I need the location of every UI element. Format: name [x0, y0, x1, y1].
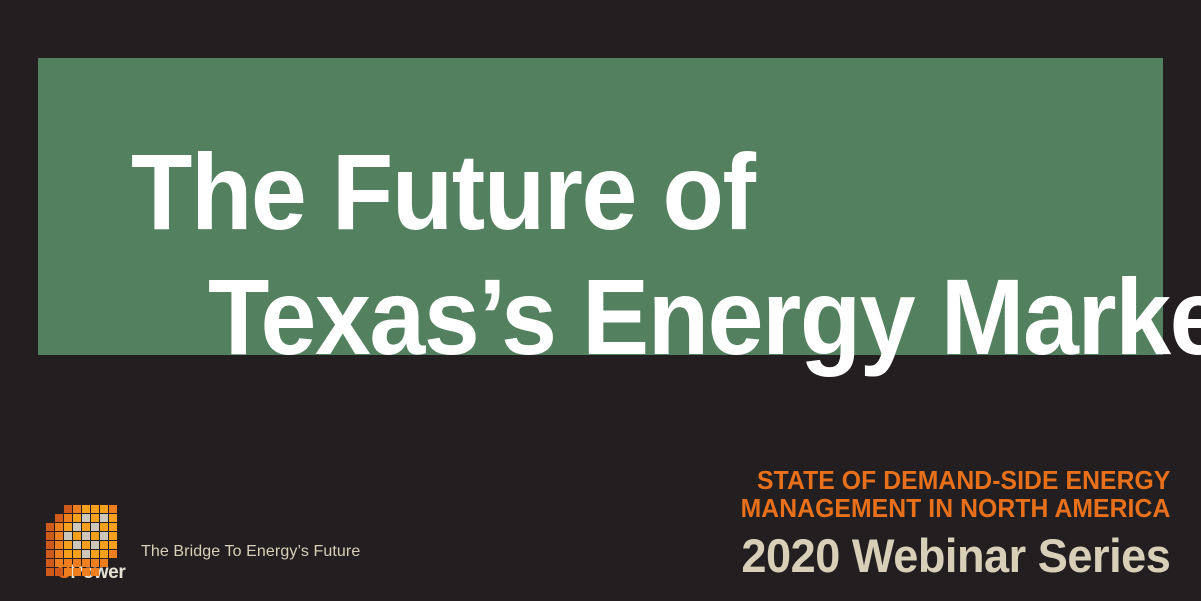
logo-cell	[73, 550, 81, 558]
logo-cell	[46, 568, 54, 576]
logo-cell	[91, 505, 99, 513]
logo-cell	[64, 532, 72, 540]
logo-cell	[73, 532, 81, 540]
series-kicker-line-2: MANAGEMENT IN NORTH AMERICA	[740, 494, 1170, 522]
logo-cell	[55, 559, 63, 567]
cpower-checkerboard-icon	[46, 505, 122, 561]
logo-cell	[64, 523, 72, 531]
logo-cell	[82, 532, 90, 540]
logo-cell	[64, 514, 72, 522]
logo-cell	[109, 532, 117, 540]
logo-cell	[82, 541, 90, 549]
logo-cell	[55, 550, 63, 558]
logo-cell	[55, 541, 63, 549]
logo-cell	[91, 523, 99, 531]
title-banner: The Future of Texas’s Energy Market	[38, 58, 1163, 355]
logo-cell	[82, 505, 90, 513]
logo-cell	[64, 559, 72, 567]
cpower-logo-lockup: CPower	[46, 505, 122, 583]
slide-canvas: The Future of Texas’s Energy Market STAT…	[0, 0, 1201, 601]
cpower-tagline: The Bridge To Energy’s Future	[141, 543, 360, 561]
logo-cell	[64, 505, 72, 513]
logo-cell	[91, 541, 99, 549]
logo-cell	[73, 568, 81, 576]
logo-cell	[46, 532, 54, 540]
logo-cell	[91, 514, 99, 522]
logo-cell	[109, 505, 117, 513]
logo-cell	[91, 559, 99, 567]
logo-cell	[109, 514, 117, 522]
logo-cell	[46, 541, 54, 549]
logo-cell	[82, 559, 90, 567]
logo-cell	[64, 550, 72, 558]
logo-cell	[100, 514, 108, 522]
title-line-2: Texas’s Energy Market	[208, 263, 1201, 371]
logo-cell	[46, 523, 54, 531]
logo-cell	[100, 550, 108, 558]
logo-cell	[64, 568, 72, 576]
logo-cell	[109, 541, 117, 549]
logo-cell	[46, 559, 54, 567]
logo-cell	[100, 523, 108, 531]
series-kicker-line-1: STATE OF DEMAND-SIDE ENERGY	[740, 466, 1170, 494]
logo-cell	[55, 568, 63, 576]
logo-cell	[82, 568, 90, 576]
logo-cell	[91, 550, 99, 558]
logo-cell	[82, 550, 90, 558]
logo-cell	[55, 532, 63, 540]
logo-cell	[73, 514, 81, 522]
logo-cell	[100, 541, 108, 549]
logo-cell	[100, 559, 108, 567]
logo-cell	[64, 541, 72, 549]
logo-cell	[73, 559, 81, 567]
webinar-series-block: STATE OF DEMAND-SIDE ENERGY MANAGEMENT I…	[718, 466, 1170, 584]
logo-cell	[82, 514, 90, 522]
title-block: The Future of Texas’s Energy Market	[38, 58, 1163, 355]
logo-cell	[55, 514, 63, 522]
cpower-logo-group: CPower The Bridge To Energy’s Future	[46, 505, 360, 583]
logo-cell	[55, 523, 63, 531]
logo-cell	[91, 532, 99, 540]
series-title: 2020 Webinar Series	[736, 528, 1170, 584]
logo-cell	[100, 505, 108, 513]
title-line-1: The Future of	[131, 138, 755, 246]
logo-cell	[100, 532, 108, 540]
logo-cell	[109, 523, 117, 531]
logo-cell	[46, 550, 54, 558]
logo-cell	[73, 541, 81, 549]
logo-cell	[73, 523, 81, 531]
logo-cell	[82, 523, 90, 531]
logo-cell	[109, 550, 117, 558]
logo-cell	[73, 505, 81, 513]
logo-cell	[91, 568, 99, 576]
